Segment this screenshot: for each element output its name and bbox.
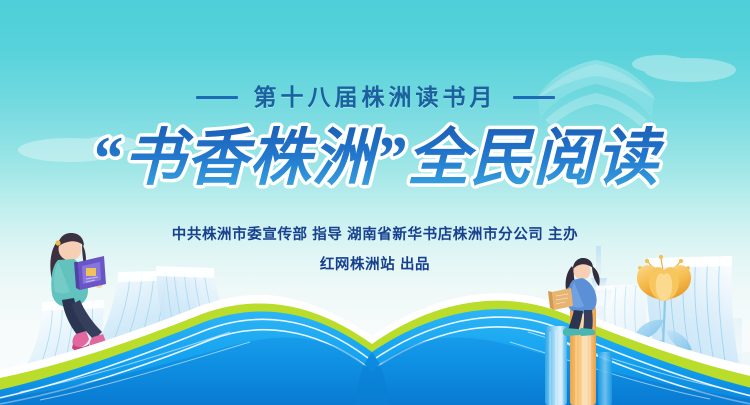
credit-line-producer: 红网株洲站 出品 [0,254,750,276]
subtitle-row: 第十八届株洲读书月 [0,86,750,109]
credit-line-organizers: 中共株洲市委宣传部 指导 湖南省新华书店株洲市分公司 主办 [0,224,750,246]
main-title: “书香株洲”全民阅读 [0,121,750,199]
book-stack-reader-figure [0,0,750,405]
promotional-banner: 第十八届株洲读书月 “书香株洲”全民阅读 中共株洲市委宣传部 指导 湖南省新华书… [0,0,750,405]
left-dash-decor [196,96,238,99]
credits-block: 中共株洲市委宣传部 指导 湖南省新华书店株洲市分公司 主办 红网株洲站 出品 [0,224,750,276]
subtitle-text: 第十八届株洲读书月 [254,86,497,109]
main-title-glyphs: “书香株洲”全民阅读 [91,125,665,193]
right-dash-decor [513,96,555,99]
